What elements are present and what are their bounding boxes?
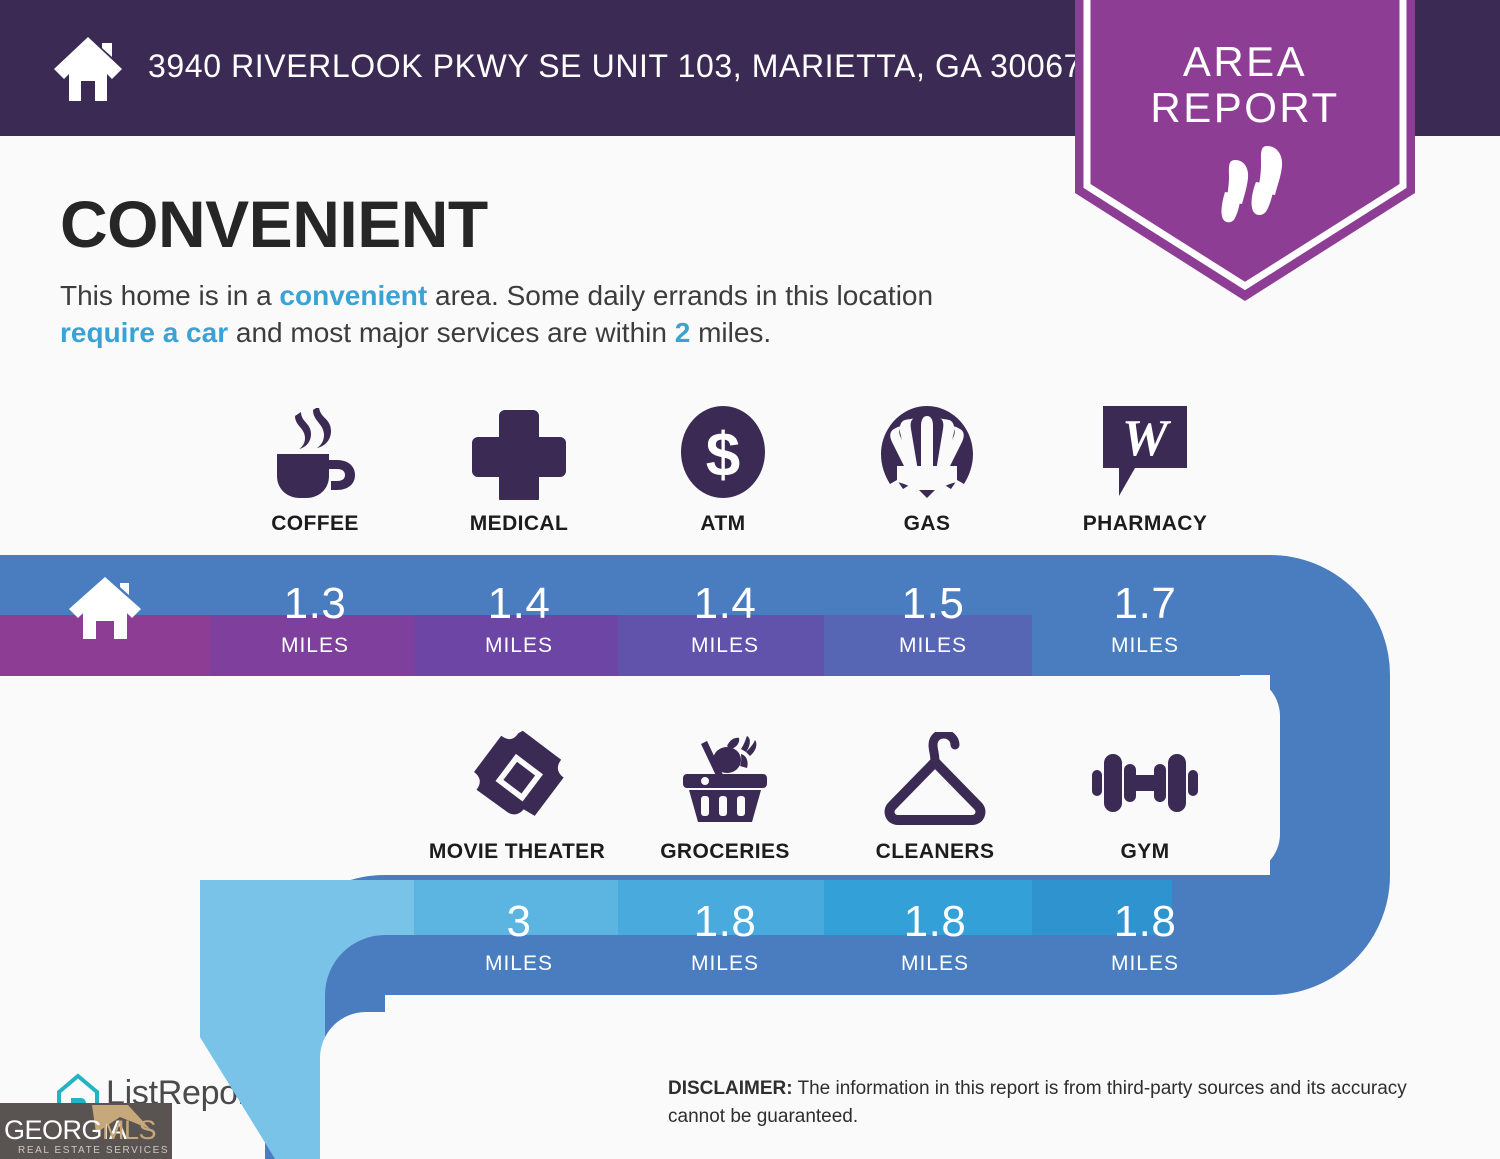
svg-text:$: $	[706, 421, 740, 490]
desc-text-3: and most major services are within	[228, 317, 675, 348]
distance-value-cleaners: 1.8 MILES	[830, 900, 1040, 976]
distance-value-gas: 1.5 MILES	[828, 582, 1038, 658]
distance-number: 1.5	[828, 582, 1038, 626]
medical-cross-icon	[414, 400, 624, 500]
mls-tagline: REAL ESTATE SERVICES	[18, 1145, 169, 1156]
distance-value-pharmacy: 1.7 MILES	[1040, 582, 1250, 658]
amenity-medical: MEDICAL	[414, 400, 624, 536]
page-title: CONVENIENT	[60, 186, 488, 262]
amenity-label: CLEANERS	[830, 840, 1040, 864]
amenity-groceries: GROCERIES	[620, 728, 830, 864]
amenity-gym: GYM	[1040, 728, 1250, 864]
desc-emphasis-require-car: require a car	[60, 317, 228, 348]
distance-unit: MILES	[828, 634, 1038, 658]
amenity-label: COFFEE	[210, 512, 420, 536]
distance-number: 1.8	[830, 900, 1040, 944]
distance-number: 1.3	[210, 582, 420, 626]
clothes-hanger-icon	[830, 728, 1040, 828]
distance-number: 1.7	[1040, 582, 1250, 626]
distance-value-atm: 1.4 MILES	[620, 582, 830, 658]
distance-unit: MILES	[1040, 634, 1250, 658]
amenity-label: GAS	[822, 512, 1032, 536]
dumbbell-icon	[1040, 728, 1250, 828]
shell-icon	[822, 400, 1032, 500]
amenity-pharmacy: W PHARMACY	[1040, 400, 1250, 536]
distance-unit: MILES	[1040, 952, 1250, 976]
amenity-cleaners: CLEANERS	[830, 728, 1040, 864]
distance-unit: MILES	[414, 952, 624, 976]
distance-number: 3	[414, 900, 624, 944]
desc-miles-number: 2	[675, 317, 691, 348]
distance-unit: MILES	[210, 634, 420, 658]
coffee-cup-icon	[210, 400, 420, 500]
desc-emphasis-convenient: convenient	[279, 280, 427, 311]
amenity-gas: GAS	[822, 400, 1032, 536]
amenity-movie-theater: MOVIE THEATER	[412, 728, 622, 864]
distance-number: 1.4	[414, 582, 624, 626]
amenity-label: PHARMACY	[1040, 512, 1250, 536]
desc-text-4: miles.	[690, 317, 771, 348]
distance-number: 1.8	[620, 900, 830, 944]
distance-value-groceries: 1.8 MILES	[620, 900, 830, 976]
distance-unit: MILES	[620, 634, 830, 658]
area-report-banner: AREA REPORT	[1075, 0, 1415, 301]
property-address: 3940 RIVERLOOK PKWY SE UNIT 103, MARIETT…	[148, 48, 1082, 85]
amenity-coffee: COFFEE	[210, 400, 420, 536]
desc-text-1: This home is in a	[60, 280, 279, 311]
pennant-line-2: REPORT	[1150, 84, 1339, 131]
home-icon	[52, 33, 124, 103]
amenity-label: GROCERIES	[620, 840, 830, 864]
svg-text:W: W	[1122, 410, 1172, 467]
distance-unit: MILES	[830, 952, 1040, 976]
desc-text-2: area. Some daily errands in this locatio…	[427, 280, 933, 311]
movie-ticket-icon	[412, 728, 622, 828]
distance-number: 1.4	[620, 582, 830, 626]
amenity-label: ATM	[618, 512, 828, 536]
distance-unit: MILES	[414, 634, 624, 658]
walgreens-w-icon: W	[1040, 400, 1250, 500]
disclaimer-label: DISCLAIMER:	[668, 1078, 793, 1099]
amenity-label: MOVIE THEATER	[412, 840, 622, 864]
disclaimer-text: DISCLAIMER: The information in this repo…	[668, 1075, 1458, 1130]
mls-name-mls: MLS	[102, 1115, 156, 1145]
distance-unit: MILES	[620, 952, 830, 976]
dollar-circle-icon: $	[618, 400, 828, 500]
distance-number: 1.8	[1040, 900, 1250, 944]
pennant-line-1: AREA	[1183, 38, 1307, 85]
distance-value-coffee: 1.3 MILES	[210, 582, 420, 658]
amenity-label: GYM	[1040, 840, 1250, 864]
distance-value-medical: 1.4 MILES	[414, 582, 624, 658]
page-description: This home is in a convenient area. Some …	[60, 277, 1020, 351]
home-origin-marker	[0, 575, 210, 646]
distance-value-movie-theater: 3 MILES	[414, 900, 624, 976]
distance-value-gym: 1.8 MILES	[1040, 900, 1250, 976]
amenity-atm: $ ATM	[618, 400, 828, 536]
georgia-mls-logo: GEORGIA MLS REAL ESTATE SERVICES	[0, 1103, 172, 1159]
amenity-label: MEDICAL	[414, 512, 624, 536]
grocery-basket-icon	[620, 728, 830, 828]
